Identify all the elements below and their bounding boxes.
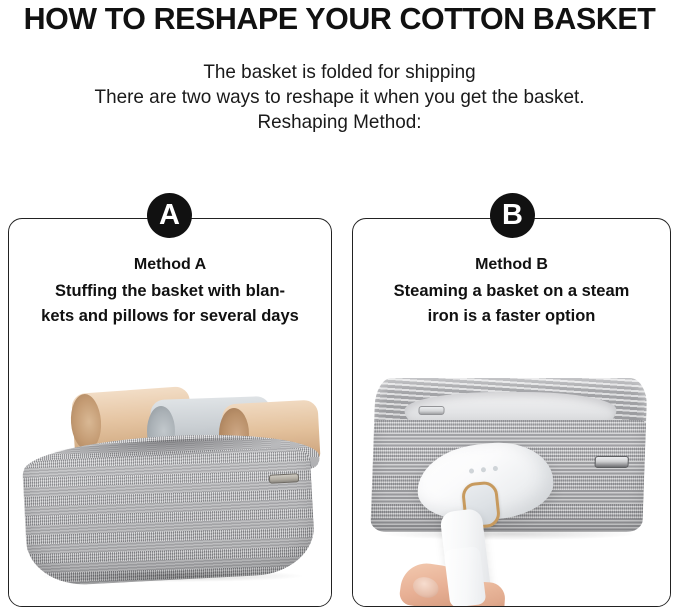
steamer-light-3 — [493, 466, 498, 471]
method-b-desc-line-2: iron is a faster option — [357, 304, 666, 329]
method-card-a: Method A Stuffing the basket with blan- … — [8, 218, 332, 607]
basket-with-blankets-illustration — [23, 384, 319, 584]
subtitle-line-2: There are two ways to reshape it when yo… — [10, 85, 669, 110]
steamer-light-1 — [469, 468, 474, 473]
basket-a-handle-slot — [269, 473, 299, 484]
method-a-desc-line-1: Stuffing the basket with blan- — [13, 279, 327, 304]
subtitle-line-1: The basket is folded for shipping — [10, 60, 669, 85]
thumb-nail — [410, 574, 441, 601]
basket-with-steamer-illustration — [365, 360, 660, 606]
method-a-description: Stuffing the basket with blan- kets and … — [9, 279, 331, 329]
basket-a-ground-shadow — [41, 570, 303, 582]
subtitle-line-3: Reshaping Method: — [10, 110, 669, 135]
method-b-photo — [353, 346, 670, 606]
steamer-handle-front — [444, 546, 487, 607]
badge-a: A — [147, 193, 192, 238]
method-a-desc-line-2: kets and pillows for several days — [13, 304, 327, 329]
basket-a-body — [22, 447, 316, 588]
method-b-description: Steaming a basket on a steam iron is a f… — [353, 279, 670, 329]
method-a-title: Method A — [9, 255, 331, 275]
basket-b-handle-slot-right — [595, 456, 629, 468]
method-a-photo — [9, 366, 331, 606]
basket-b-ground-shadow — [385, 528, 633, 540]
steamer-light-2 — [481, 467, 486, 472]
method-b-title: Method B — [353, 255, 670, 275]
method-card-b: Method B Steaming a basket on a steam ir… — [352, 218, 671, 607]
infographic-page: HOW TO RESHAPE YOUR COTTON BASKET The ba… — [0, 0, 679, 611]
badge-b: B — [490, 193, 535, 238]
method-b-desc-line-1: Steaming a basket on a steam — [357, 279, 666, 304]
rope-basket-a — [23, 436, 319, 584]
basket-b-handle-slot-left — [418, 406, 444, 415]
page-title: HOW TO RESHAPE YOUR COTTON BASKET — [7, 0, 672, 39]
subtitle-block: The basket is folded for shipping There … — [0, 60, 679, 135]
